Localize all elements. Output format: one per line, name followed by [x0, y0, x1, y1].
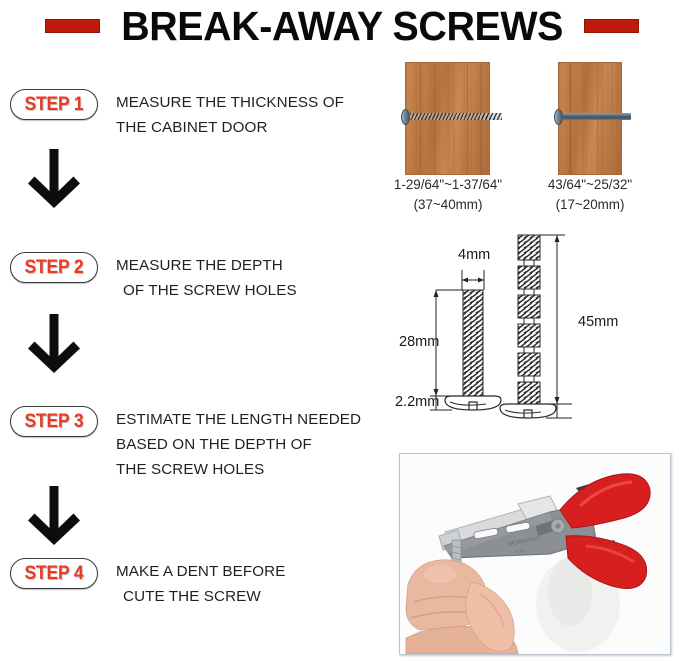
step-1-text: MEASURE THE THICKNESS OF THE CABINET DOO…	[116, 89, 344, 140]
step-2-line-1: MEASURE THE DEPTH	[116, 253, 297, 278]
panel-thin-caption-metric: (17~20mm)	[510, 195, 670, 215]
screw-thread-thick-icon	[410, 113, 480, 120]
step-badge-2: STEP 2	[10, 252, 98, 283]
screw-head-thick-icon	[401, 109, 410, 125]
dimension-label-long-length: 45mm	[578, 314, 618, 330]
step-badge-1: STEP 1	[10, 89, 98, 120]
step-2-text: MEASURE THE DEPTH OF THE SCREW HOLES	[116, 252, 297, 303]
step-1-line-2: THE CABINET DOOR	[116, 115, 344, 140]
dimension-label-width: 4mm	[458, 247, 490, 263]
page-title: BREAK-AWAY SCREWS	[121, 3, 563, 49]
step-4-text: MAKE A DENT BEFORE CUTE THE SCREW	[116, 558, 285, 609]
title-dash-left-icon	[45, 19, 100, 33]
step-row-4: STEP 4 MAKE A DENT BEFORE CUTE THE SCREW	[0, 558, 370, 609]
step-row-3: STEP 3 ESTIMATE THE LENGTH NEEDED BASED …	[0, 406, 370, 482]
step-badge-4: STEP 4	[10, 558, 98, 589]
page-title-bar: BREAK-AWAY SCREWS	[0, 0, 679, 52]
pliers-photo: WORKPRO 8 IN	[399, 453, 671, 655]
step-3-line-3: THE SCREW HOLES	[116, 457, 361, 482]
step-3-line-1: ESTIMATE THE LENGTH NEEDED	[116, 407, 361, 432]
cabinet-door-figure: 1-29/64"~1-37/64" (37~40mm) 43/64"~25/32…	[370, 55, 679, 225]
step-1-line-1: MEASURE THE THICKNESS OF	[116, 90, 344, 115]
panel-thick-caption-metric: (37~40mm)	[368, 195, 528, 215]
step-row-2: STEP 2 MEASURE THE DEPTH OF THE SCREW HO…	[0, 252, 370, 303]
step-4-line-2: CUTE THE SCREW	[116, 584, 285, 609]
arrow-step2-to-step3-icon	[28, 312, 80, 374]
arrow-step1-to-step2-icon	[28, 147, 80, 209]
panel-thin-caption-imperial: 43/64"~25/32"	[510, 175, 670, 195]
step-badge-2-label: STEP 2	[25, 257, 84, 279]
dimension-label-short-length: 28mm	[399, 334, 439, 350]
arrow-step3-to-step4-icon	[28, 484, 80, 546]
step-3-line-2: BASED ON THE DEPTH OF	[116, 432, 361, 457]
screw-shaft-thin-icon	[563, 113, 631, 120]
step-3-text: ESTIMATE THE LENGTH NEEDED BASED ON THE …	[116, 406, 361, 482]
title-dash-right-icon	[584, 19, 639, 33]
step-4-line-1: MAKE A DENT BEFORE	[116, 559, 285, 584]
screw-head-thin-icon	[554, 109, 563, 125]
step-badge-3-label: STEP 3	[25, 411, 84, 433]
panel-thick-caption-imperial: 1-29/64"~1-37/64"	[368, 175, 528, 195]
screw-dimension-figure: 4mm 28mm 2.2mm 45mm	[400, 228, 679, 446]
step-badge-3: STEP 3	[10, 406, 98, 437]
step-2-line-2: OF THE SCREW HOLES	[116, 278, 297, 303]
step-badge-1-label: STEP 1	[25, 94, 84, 116]
step-badge-4-label: STEP 4	[25, 563, 84, 585]
screw-tip-thick-icon	[480, 113, 502, 120]
dimension-label-head-height: 2.2mm	[395, 394, 439, 410]
step-row-1: STEP 1 MEASURE THE THICKNESS OF THE CABI…	[0, 89, 370, 140]
